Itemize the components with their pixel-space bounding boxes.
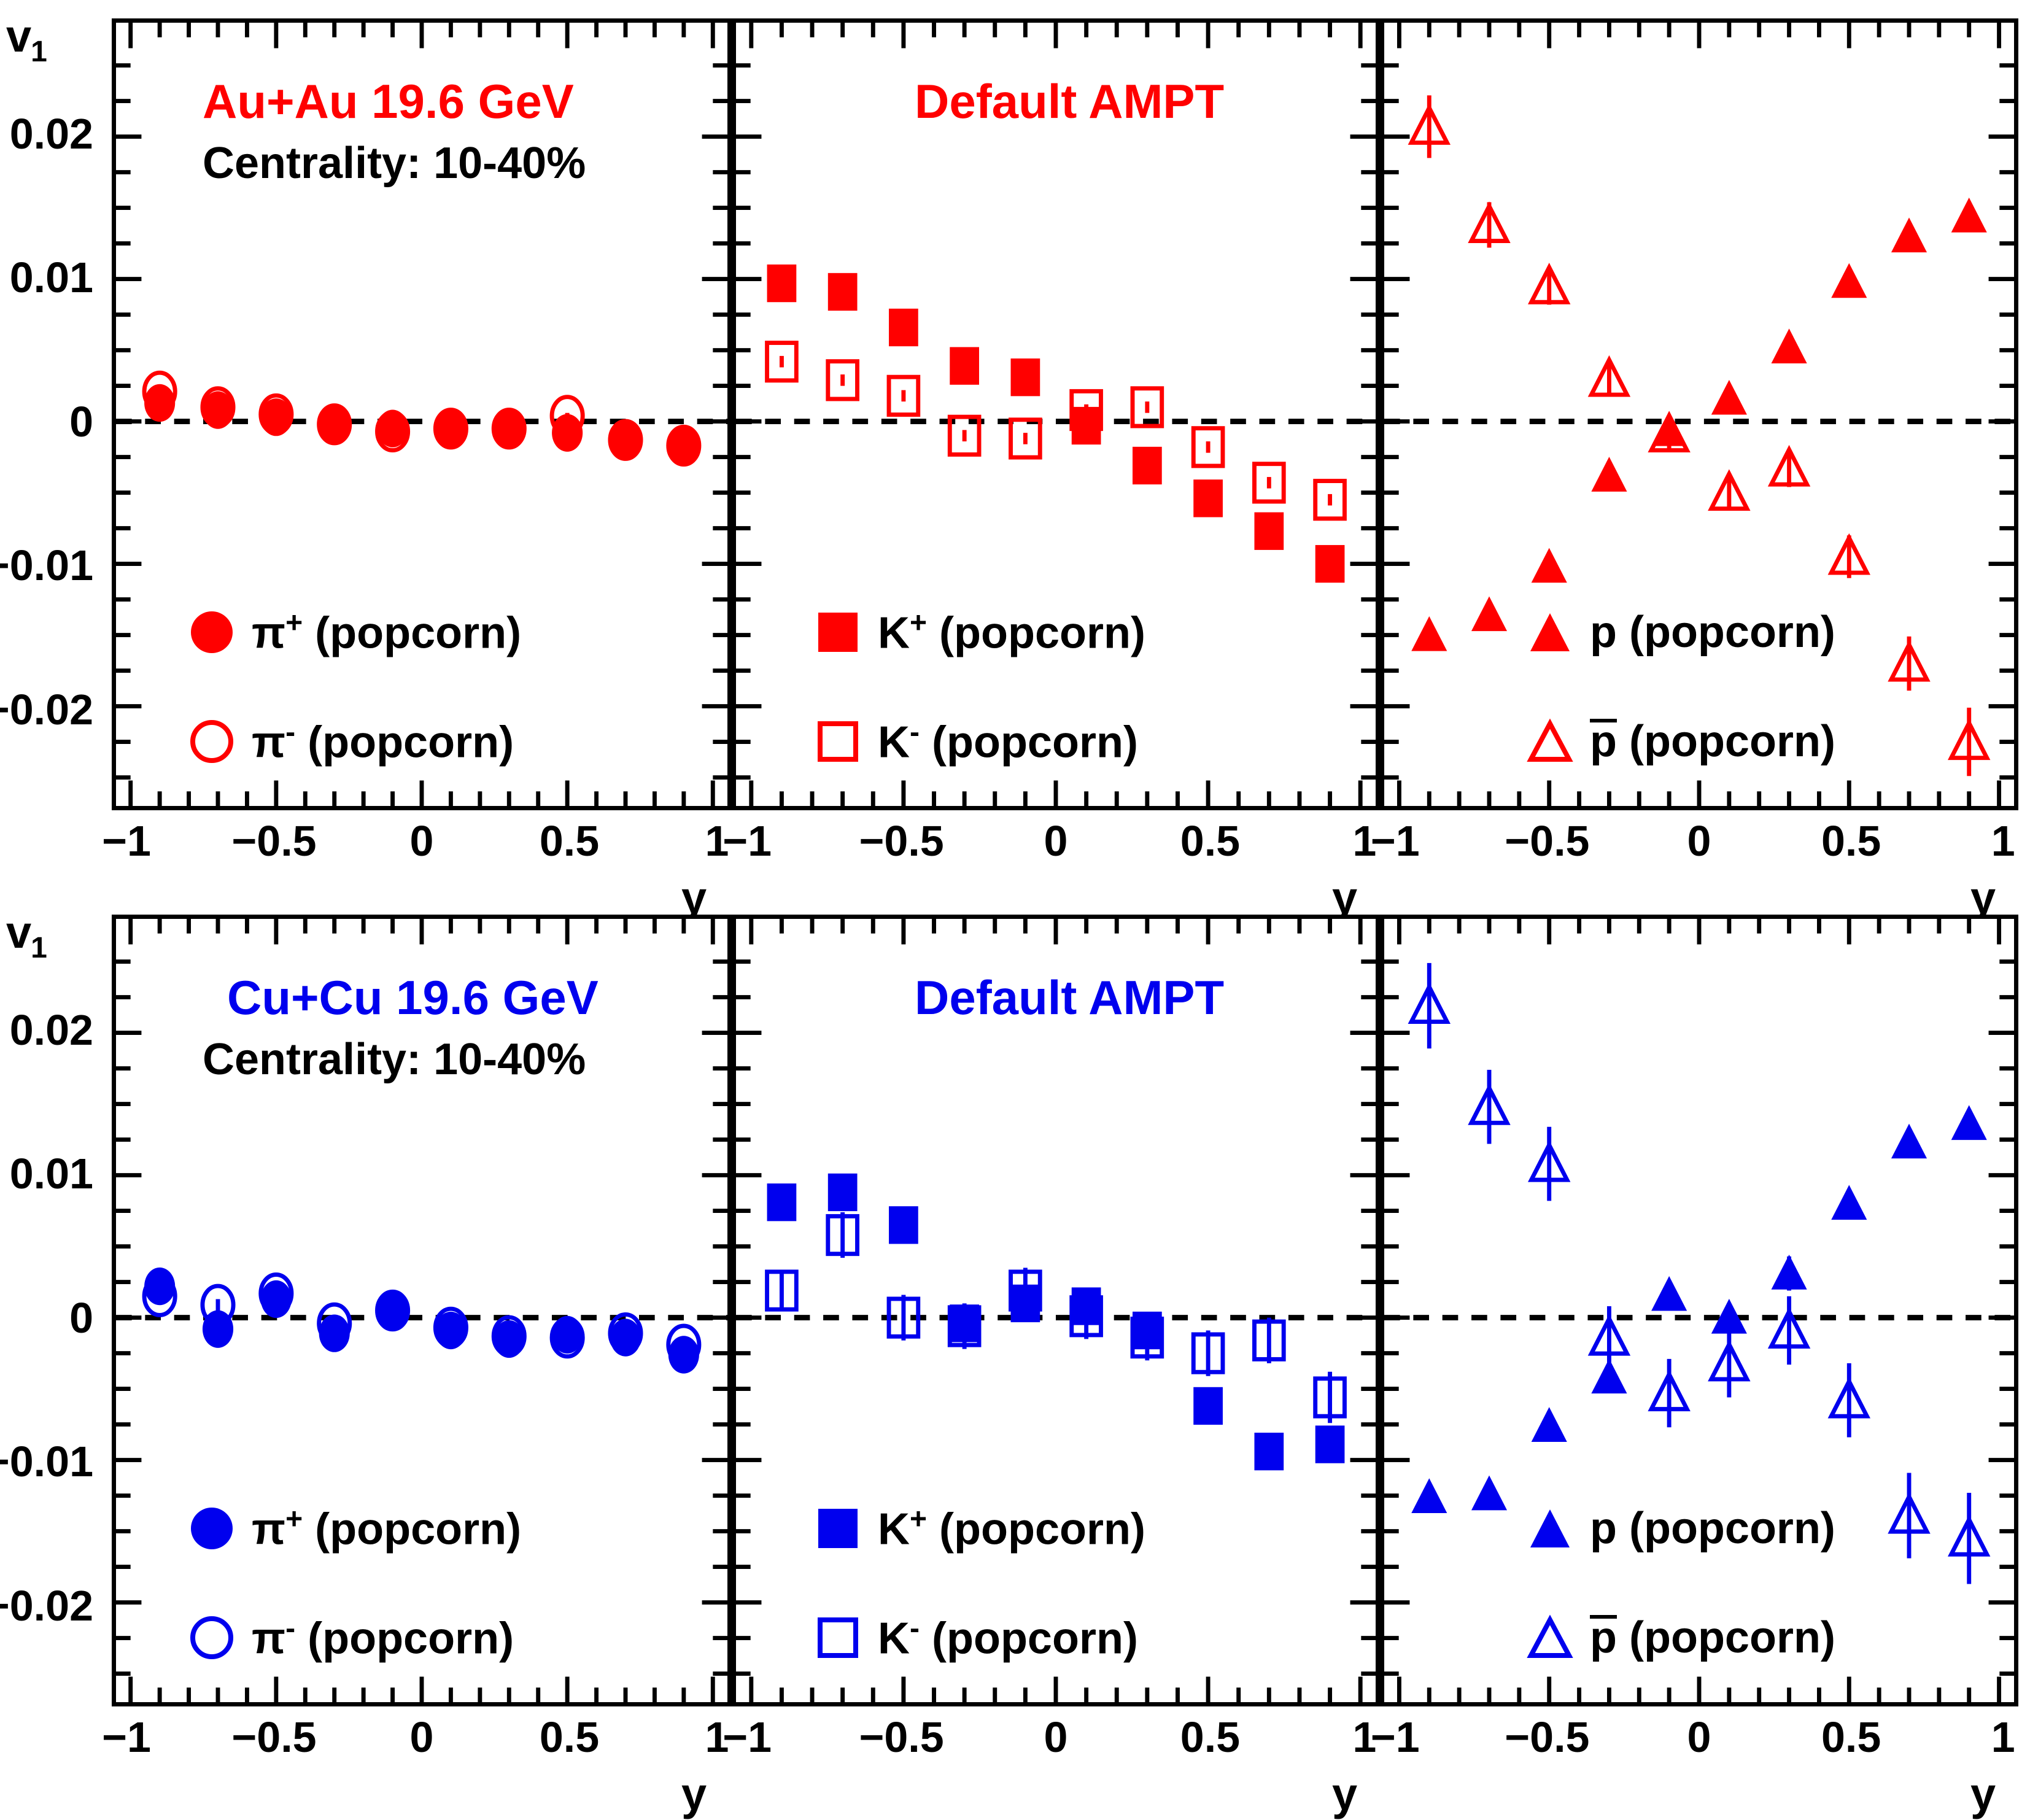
x-tick-label: 0.5 [1821, 1713, 1881, 1762]
series-triangle-open [1411, 95, 1987, 776]
marker-circle-open-icon [184, 714, 239, 769]
x-tick-label: −1 [723, 1713, 772, 1762]
x-tick-label: −0.5 [859, 816, 943, 865]
x-tick-label: −0.5 [1505, 816, 1589, 865]
annotation-centrality-bottom: Centrality: 10-40% [203, 1034, 586, 1085]
data-point-triangle-filled [1711, 380, 1747, 415]
y-tick-labels-bottom: 0.020.010−0.01−0.02 [0, 915, 110, 1706]
legend-label-pi-plus: π+ (popcorn) [252, 1503, 521, 1555]
x-tick-label: −0.5 [231, 1713, 316, 1762]
marker-triangle-filled-icon [1522, 605, 1578, 660]
x-tick-label: −0.5 [859, 1713, 943, 1762]
data-point-triangle-filled [1411, 616, 1447, 651]
x-tick-labels-cucu-proton: −1−0.500.51 [1380, 1713, 2018, 1780]
x-tick-labels-cucu-kaon: −1−0.500.51 [732, 1713, 1380, 1780]
legend-label-pi-minus: π- (popcorn) [252, 716, 514, 768]
data-point-triangle-filled [1471, 596, 1507, 631]
x-tick-label: −1 [1371, 816, 1420, 865]
y-tick-label: 0.02 [10, 1005, 93, 1055]
data-point-triangle-filled [1951, 198, 1987, 233]
annotation-model-top: Default AMPT [915, 74, 1224, 130]
y-tick-label: −0.02 [0, 685, 93, 734]
plot-panel-auau-pion[interactable] [112, 18, 732, 810]
marker-triangle-open-icon [1522, 1610, 1578, 1665]
data-point-square-filled [1315, 545, 1345, 583]
x-tick-label: 0.5 [1180, 816, 1240, 865]
x-tick-label: 0.5 [1180, 1713, 1240, 1762]
y-tick-labels-top: 0.020.010−0.01−0.02 [0, 18, 110, 810]
panel-row-cucu: v1 0.020.010−0.01−0.02 −1−0.500.51 y Cu+… [0, 902, 2030, 1762]
axis-ticks [736, 23, 1376, 806]
x-tick-label: 0 [1687, 1713, 1711, 1762]
data-point-triangle-filled [1471, 1476, 1507, 1511]
x-tick-label: 0 [1687, 816, 1711, 865]
panel-row-auau: v1 0.020.010−0.01−0.02 −1−0.500.51 y Au+… [0, 6, 2030, 865]
legend-label-p: p (popcorn) [1590, 607, 1835, 657]
plot-panel-cucu-kaon[interactable] [732, 915, 1380, 1706]
annotation-centrality-top: Centrality: 10-40% [203, 138, 586, 188]
x-tick-label: 0 [1044, 1713, 1068, 1762]
legend-label-pbar: p (popcorn) [1590, 1613, 1835, 1663]
plot-panel-auau-proton[interactable] [1380, 18, 2018, 810]
series-triangle-filled [1411, 1105, 1987, 1513]
data-point-square-filled [889, 309, 918, 346]
x-tick-label: 0.5 [1821, 816, 1881, 865]
series-triangle-filled [1411, 198, 1987, 651]
data-point-square-filled [1193, 479, 1223, 517]
marker-circle-filled-icon [184, 1501, 239, 1556]
data-point-square-filled [767, 265, 797, 302]
annotation-model-bottom: Default AMPT [915, 970, 1224, 1026]
marker-triangle-filled-icon [1522, 1501, 1578, 1556]
x-tick-labels-auau-kaon: −1−0.500.51 [732, 816, 1380, 884]
y-tick-label: −0.02 [0, 1581, 93, 1630]
x-tick-label: −1 [102, 1713, 151, 1762]
y-tick-label: 0 [69, 397, 93, 446]
data-point-square-filled [889, 1206, 918, 1244]
annotation-system-bottom: Cu+Cu 19.6 GeV [227, 970, 599, 1026]
data-point-triangle-filled [1891, 217, 1927, 252]
data-point-triangle-filled [1651, 1276, 1687, 1311]
legend-label-pbar: p (popcorn) [1590, 716, 1835, 767]
multi-panel-figure: v1 0.020.010−0.01−0.02 −1−0.500.51 y Au+… [0, 0, 2030, 1803]
x-tick-label: 0 [410, 816, 434, 865]
data-point-square-filled [1011, 358, 1040, 396]
series-triangle-open [1411, 963, 1987, 1584]
annotation-system-top: Au+Au 19.6 GeV [203, 74, 574, 130]
marker-square-open-icon [810, 1610, 866, 1665]
legend-label-k-minus: K- (popcorn) [878, 1612, 1138, 1664]
legend-label-pi-plus: π+ (popcorn) [252, 606, 521, 659]
data-point-triangle-filled [1532, 1407, 1567, 1442]
plot-panel-cucu-proton[interactable] [1380, 915, 2018, 1706]
legend-label-k-plus: K+ (popcorn) [878, 1503, 1145, 1555]
data-point-square-filled [1193, 1387, 1223, 1425]
marker-triangle-open-icon [1522, 714, 1578, 769]
x-tick-label: 1 [1991, 816, 2015, 865]
x-tick-label: −0.5 [231, 816, 316, 865]
data-point-triangle-filled [1891, 1124, 1927, 1159]
y-tick-label: 0.01 [10, 1149, 93, 1198]
data-point-triangle-filled [1831, 1185, 1867, 1220]
data-point-triangle-filled [1772, 328, 1807, 363]
x-tick-label: −1 [102, 816, 151, 865]
x-tick-label: −1 [1371, 1713, 1420, 1762]
data-point-square-filled [1315, 1425, 1345, 1463]
y-tick-label: 0 [69, 1293, 93, 1342]
x-tick-labels-auau-proton: −1−0.500.51 [1380, 816, 2018, 884]
data-point-triangle-filled [1532, 548, 1567, 583]
axis-ticks [736, 919, 1376, 1702]
plot-panel-cucu-pion[interactable] [112, 915, 732, 1706]
legend-label-pi-minus: π- (popcorn) [252, 1612, 514, 1664]
series-square-open [767, 343, 1345, 518]
x-tick-label: 0.5 [540, 816, 599, 865]
x-tick-label: 1 [1991, 1713, 2015, 1762]
x-tick-label: −1 [723, 816, 772, 865]
x-tick-label: 0.5 [540, 1713, 599, 1762]
x-axis-label-cucu-pion: y [681, 1768, 707, 1820]
marker-square-open-icon [810, 714, 866, 769]
x-tick-labels-auau-pion: −1−0.500.51 [112, 816, 732, 884]
data-point-triangle-filled [1951, 1105, 1987, 1140]
plot-panel-auau-kaon[interactable] [732, 18, 1380, 810]
y-tick-label: −0.01 [0, 541, 93, 590]
marker-circle-open-icon [184, 1610, 239, 1665]
data-point-triangle-filled [1831, 263, 1867, 298]
marker-circle-filled-icon [184, 605, 239, 660]
data-point-triangle-filled [1772, 1255, 1807, 1290]
x-axis-label-cucu-proton: y [1970, 1768, 1996, 1820]
data-point-triangle-filled [1591, 457, 1627, 492]
marker-square-filled-icon [810, 605, 866, 660]
x-tick-labels-cucu-pion: −1−0.500.51 [112, 1713, 732, 1780]
data-point-square-filled [1254, 513, 1284, 550]
data-point-square-filled [828, 1174, 858, 1211]
data-point-square-filled [1133, 447, 1162, 484]
y-tick-label: −0.01 [0, 1437, 93, 1486]
data-point-square-filled [828, 273, 858, 311]
data-point-square-filled [1254, 1433, 1284, 1470]
legend-label-k-minus: K- (popcorn) [878, 716, 1138, 768]
data-point-triangle-filled [1411, 1478, 1447, 1513]
legend-label-p: p (popcorn) [1590, 1503, 1835, 1554]
x-tick-label: 0 [410, 1713, 434, 1762]
data-point-square-filled [767, 1183, 797, 1221]
x-axis-label-cucu-kaon: y [1332, 1768, 1357, 1820]
legend-label-k-plus: K+ (popcorn) [878, 606, 1145, 659]
y-tick-label: 0.02 [10, 109, 93, 158]
axis-ticks [1384, 919, 2014, 1702]
x-tick-label: 0 [1044, 816, 1068, 865]
axis-ticks [1384, 23, 2014, 806]
x-tick-label: −0.5 [1505, 1713, 1589, 1762]
data-point-square-filled [950, 347, 979, 384]
marker-square-filled-icon [810, 1501, 866, 1556]
y-tick-label: 0.01 [10, 253, 93, 302]
